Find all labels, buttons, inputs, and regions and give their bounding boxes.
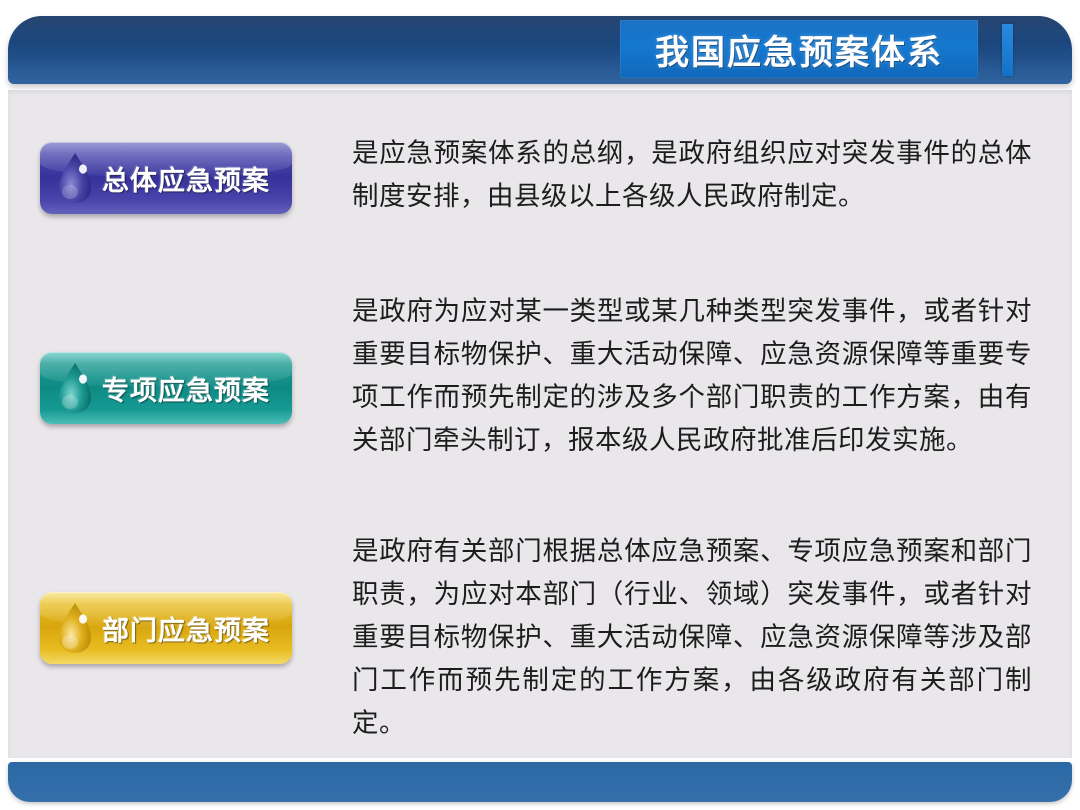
water-droplet-icon (56, 362, 94, 414)
title-accent-bar (1002, 24, 1013, 76)
water-droplet-icon (56, 152, 94, 204)
page-title: 我国应急预案体系 (655, 25, 943, 74)
category-description: 是应急预案体系的总纲，是政府组织应对突发事件的总体制度安排，由县级以上各级人民政… (352, 132, 1032, 218)
water-droplet-icon (56, 602, 94, 654)
category-button-label: 总体应急预案 (102, 159, 270, 198)
category-button-overall-plan[interactable]: 总体应急预案 (40, 142, 292, 214)
category-description: 是政府为应对某一类型或某几种类型突发事件，或者针对重要目标物保护、重大活动保障、… (352, 290, 1032, 462)
title-plate: 我国应急预案体系 (620, 20, 978, 78)
category-description: 是政府有关部门根据总体应急预案、专项应急预案和部门职责，为应对本部门（行业、领域… (352, 530, 1032, 745)
category-button-label: 专项应急预案 (102, 369, 270, 408)
content-panel: 总体应急预案 是应急预案体系的总纲，是政府组织应对突发事件的总体制度安排，由县级… (8, 90, 1072, 758)
slide-root: 我国应急预案体系 (0, 0, 1080, 810)
category-button-special-plan[interactable]: 专项应急预案 (40, 352, 292, 424)
category-button-department-plan[interactable]: 部门应急预案 (40, 592, 292, 664)
footer-band (8, 762, 1072, 802)
category-button-label: 部门应急预案 (102, 609, 270, 648)
